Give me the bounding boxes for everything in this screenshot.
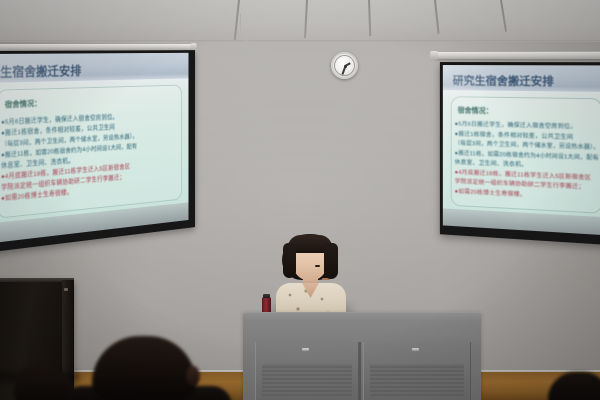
screen-roller-bar-right <box>434 52 600 59</box>
screen-roller-cap-right <box>430 51 438 60</box>
cabinet-handle-left[interactable] <box>302 348 309 351</box>
slide-subtitle-right: 宿舍情况： <box>458 105 493 116</box>
lectern-cabinet <box>243 314 481 400</box>
presenter-hair-side-right <box>324 243 338 279</box>
cabinet-door-left[interactable] <box>255 342 359 400</box>
screen-frame-right: 研究生宿舍搬迁安排 宿舍情况： ●5月6日搬迁学生，确保迁入宿舍空房到位。 ●搬… <box>440 62 600 246</box>
presenter-hair-side-left <box>283 243 296 278</box>
piano-hinge <box>64 288 68 291</box>
cabinet-louver-right <box>370 364 464 396</box>
water-bottle-cap <box>263 294 270 298</box>
cabinet-door-gap <box>359 342 361 400</box>
slide-right: 研究生宿舍搬迁安排 宿舍情况： ●5月6日搬迁学生，确保迁入宿舍空房到位。 ●搬… <box>443 65 600 236</box>
presenter-eye-left <box>315 265 320 267</box>
wall-clock <box>331 52 358 79</box>
audience-ear <box>186 366 200 386</box>
slide-title-left: 研究生宿舍搬迁安排 <box>0 61 81 81</box>
slide-bullets-right: ●5月6日搬迁学生，确保迁入宿舍空房到位。 ●搬迁1栋宿舍，条件相对较差，公共卫… <box>443 120 600 205</box>
cabinet-louver-left <box>262 364 352 396</box>
lecture-hall-photo: 研究生宿舍搬迁安排 宿舍情况： ●5月6日搬迁学生，确保迁入宿舍空房到位。 ●搬… <box>0 0 600 400</box>
presenter <box>276 234 346 318</box>
slide-subtitle-left: 宿舍情况： <box>5 98 42 110</box>
cabinet-handle-right[interactable] <box>412 348 419 351</box>
screen-frame-left: 研究生宿舍搬迁安排 宿舍情况： ●5月6日搬迁学生，确保迁入宿舍空房到位。 ●搬… <box>0 50 195 253</box>
clock-center-pin <box>344 65 347 68</box>
slide-title-right: 研究生宿舍搬迁安排 <box>453 72 554 89</box>
ceiling <box>0 0 600 42</box>
ceiling-wire <box>240 14 275 43</box>
cabinet-door-right[interactable] <box>363 342 471 400</box>
slide-left: 研究生宿舍搬迁安排 宿舍情况： ●5月6日搬迁学生，确保迁入宿舍空房到位。 ●搬… <box>0 53 188 244</box>
